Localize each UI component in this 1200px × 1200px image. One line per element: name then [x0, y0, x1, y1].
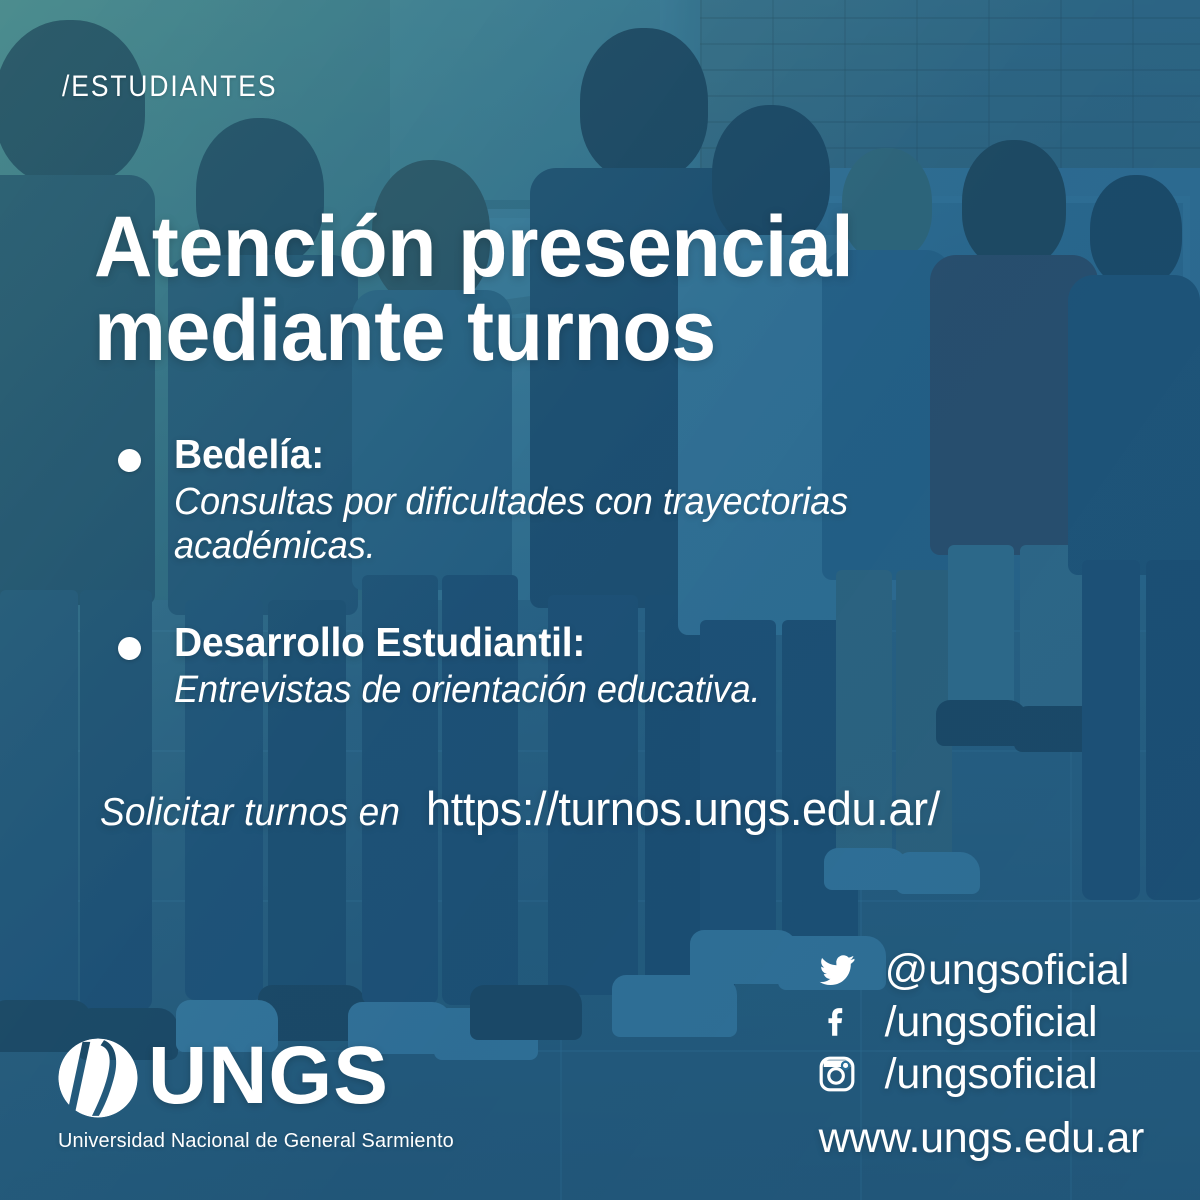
social-row-instagram[interactable]: /ungsoficial — [815, 1048, 1144, 1100]
instagram-icon — [815, 1055, 859, 1093]
poster-content: /ESTUDIANTES Atención presencial mediant… — [0, 0, 1200, 1200]
page-title-line-1: Atención presencial — [94, 205, 1053, 289]
ungs-logo: UNGS Universidad Nacional de General Sar… — [55, 1035, 466, 1153]
cta-url[interactable]: https://turnos.ungs.edu.ar/ — [426, 781, 940, 836]
social-block: @ungsoficial /ungsoficial — [815, 944, 1144, 1163]
social-handle-facebook: /ungsoficial — [885, 998, 1098, 1047]
cta-line: Solicitar turnos enhttps://turnos.ungs.e… — [100, 781, 961, 836]
social-row-twitter[interactable]: @ungsoficial — [815, 944, 1144, 996]
page-title-line-2: mediante turnos — [94, 289, 1053, 373]
ungs-tagline: Universidad Nacional de General Sarmient… — [58, 1129, 454, 1153]
ungs-circle-mark-icon — [55, 1035, 141, 1121]
list-item-text: Entrevistas de orientación educativa. — [174, 668, 1018, 712]
poster-canvas: /ESTUDIANTES Atención presencial mediant… — [0, 0, 1200, 1200]
list-item-heading: Desarrollo Estudiantil: — [174, 620, 1018, 666]
twitter-icon — [815, 951, 859, 989]
social-handle-instagram: /ungsoficial — [885, 1050, 1098, 1099]
service-list: Bedelía: Consultas por dificultades con … — [112, 432, 1062, 746]
list-item-text: Consultas por dificultades con trayector… — [174, 480, 1018, 568]
website-url[interactable]: www.ungs.edu.ar — [819, 1114, 1144, 1163]
social-row-facebook[interactable]: /ungsoficial — [815, 996, 1144, 1048]
page-title: Atención presencial mediante turnos — [94, 205, 1053, 374]
facebook-icon — [815, 1003, 859, 1041]
list-item-heading: Bedelía: — [174, 432, 1018, 478]
cta-prefix: Solicitar turnos en — [100, 791, 400, 835]
ungs-wordmark: UNGS — [148, 1039, 389, 1113]
dot-bullet-icon — [118, 637, 141, 660]
list-item: Bedelía: Consultas por dificultades con … — [112, 432, 1062, 568]
social-handle-twitter: @ungsoficial — [885, 946, 1129, 995]
section-kicker: /ESTUDIANTES — [62, 70, 277, 104]
dot-bullet-icon — [118, 449, 141, 472]
list-item: Desarrollo Estudiantil: Entrevistas de o… — [112, 620, 1062, 712]
